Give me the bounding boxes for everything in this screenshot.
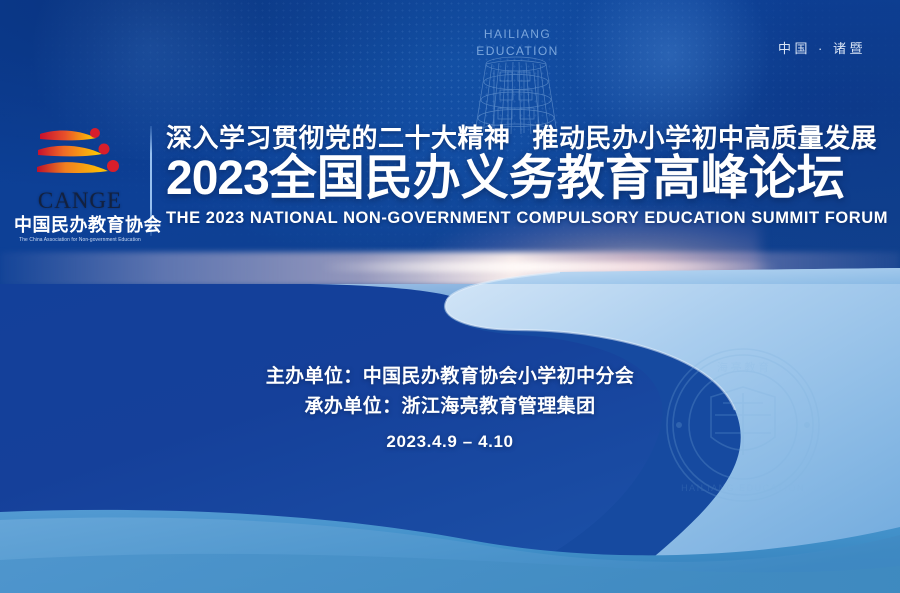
cange-english-name: The China Association for Non-government… bbox=[15, 236, 144, 244]
headline-year: 2023 bbox=[166, 152, 269, 205]
sun-bloom bbox=[430, 210, 760, 340]
tower-label-line1: HAILIANG bbox=[455, 26, 580, 43]
event-date: 2023.4.9 – 4.10 bbox=[0, 432, 900, 452]
organizers-block: 主办单位：中国民办教育协会小学初中分会 承办单位：浙江海亮教育管理集团 bbox=[0, 362, 900, 422]
organizer-host: 主办单位：中国民办教育协会小学初中分会 bbox=[0, 362, 900, 392]
location-label: 中国 · 诸暨 bbox=[778, 38, 866, 57]
tower-watermark-label: HAILIANG EDUCATION bbox=[455, 26, 580, 60]
conference-poster: HAILIANG EDUCATION bbox=[0, 0, 900, 593]
horizon-light-core bbox=[320, 262, 780, 272]
water-landscape-scene bbox=[0, 0, 900, 593]
cange-swoosh-emblem-icon bbox=[32, 124, 128, 186]
headline-group: 深入学习贯彻党的二十大精神推动民办小学初中高质量发展 2023全国民办义务教育高… bbox=[166, 122, 866, 229]
headline-english: THE 2023 NATIONAL NON-GOVERNMENT COMPULS… bbox=[166, 207, 866, 229]
cange-logo: CANGE 中国民办教育协会 The China Association for… bbox=[14, 124, 146, 244]
organizer-undertaker: 承办单位：浙江海亮教育管理集团 bbox=[0, 392, 900, 422]
svg-text:HAILIANG EDUCATION: HAILIANG EDUCATION bbox=[681, 483, 805, 493]
cange-chinese-name: 中国民办教育协会 bbox=[14, 214, 146, 236]
cange-acronym: CANGE bbox=[14, 188, 146, 214]
headline-main-text: 全国民办义务教育高峰论坛 bbox=[269, 152, 845, 205]
headline-subtitle: 深入学习贯彻党的二十大精神推动民办小学初中高质量发展 bbox=[166, 122, 866, 154]
horizon-light-band bbox=[0, 252, 900, 286]
headline-subtitle-left: 深入学习贯彻党的二十大精神 bbox=[166, 123, 511, 153]
headline-main: 2023全国民办义务教育高峰论坛 bbox=[166, 152, 866, 206]
sky-vignette bbox=[0, 0, 900, 593]
tower-label-line2: EDUCATION bbox=[455, 43, 580, 60]
wireframe-tower-icon bbox=[456, 0, 576, 135]
headline-subtitle-right: 推动民办小学初中高质量发展 bbox=[533, 123, 878, 153]
